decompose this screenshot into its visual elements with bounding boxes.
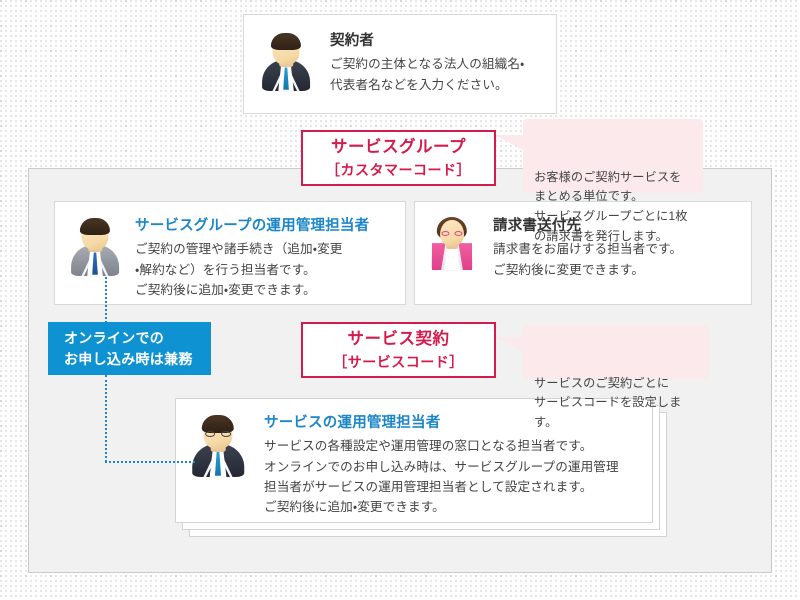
service-group-callout: お客様のご契約サービスを まとめる単位です。 サービスグループごとに1枚 の請求…	[523, 119, 703, 193]
service-group-admin-card-description: ご契約の管理や諸手続き（追加・変更 ・解約など）を行う担当者です。 ご契約後に追…	[135, 239, 369, 300]
concurrent-duty-badge: オンラインでの お申し込み時は兼務	[48, 322, 211, 375]
service-contract-label-box: サービス契約 ［サービスコード］	[301, 322, 496, 378]
businessman-gray-suit-avatar-icon	[69, 214, 121, 276]
businessman-glasses-avatar-icon	[190, 411, 246, 477]
contractor-card-title: 契約者	[330, 31, 524, 51]
service-contract-callout: サービスのご契約ごとに サービスコードを設定します。	[523, 325, 709, 379]
service-admin-card-title: サービスの運用管理担当者	[264, 413, 619, 433]
service-group-label-box: サービスグループ ［カスタマーコード］	[301, 130, 496, 186]
callout-tail-icon	[495, 337, 523, 351]
service-contract-label-line2: ［サービスコード］	[333, 352, 464, 372]
service-contract-label-line1: サービス契約	[348, 328, 450, 352]
service-admin-card-stack: サービスの運用管理担当者 サービスの各種設定や運用管理の窓口となる担当者です。 …	[175, 398, 675, 533]
service-group-admin-card-title: サービスグループの運用管理担当者	[135, 216, 369, 236]
connector-line-vertical-upper	[105, 277, 107, 323]
businessman-avatar-icon	[260, 29, 312, 91]
service-group-callout-text: お客様のご契約サービスを まとめる単位です。 サービスグループごとに1枚 の請求…	[534, 170, 688, 243]
service-group-label-line2: ［カスタマーコード］	[326, 160, 471, 180]
service-admin-card: サービスの運用管理担当者 サービスの各種設定や運用管理の窓口となる担当者です。 …	[175, 398, 653, 523]
callout-tail-icon	[495, 135, 523, 150]
diagram-canvas: 契約者 ご契約の主体となる法人の組織名・ 代表者名などを入力ください。 サービス…	[0, 0, 800, 600]
connector-line-vertical-lower	[105, 375, 107, 462]
connector-line-horizontal	[105, 461, 195, 463]
concurrent-duty-badge-text: オンラインでの お申し込み時は兼務	[64, 328, 211, 370]
service-group-label-line1: サービスグループ	[331, 136, 466, 160]
businesswoman-avatar-icon	[429, 214, 475, 270]
service-admin-card-description: サービスの各種設定や運用管理の窓口となる担当者です。 オンラインでのお申し込み時…	[264, 436, 619, 518]
contractor-card-description: ご契約の主体となる法人の組織名・ 代表者名などを入力ください。	[330, 54, 524, 95]
contractor-card: 契約者 ご契約の主体となる法人の組織名・ 代表者名などを入力ください。	[243, 14, 557, 114]
